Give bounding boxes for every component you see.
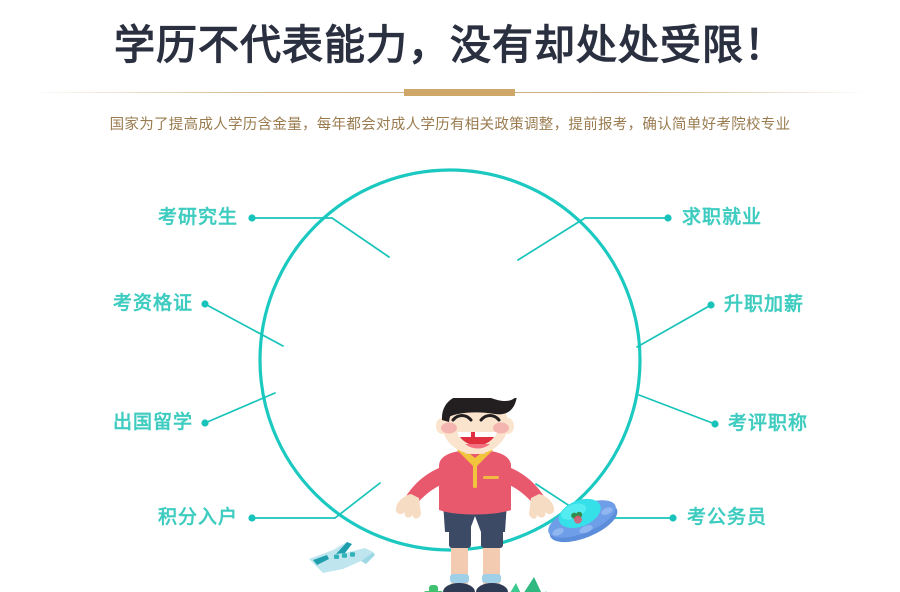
connector-left-3 bbox=[205, 393, 275, 423]
title-divider bbox=[0, 88, 900, 98]
node-kaopingzhicheng[interactable]: 考评职称 bbox=[728, 413, 900, 435]
node-kaoyanjiusheng[interactable]: 考研究生 bbox=[60, 207, 238, 229]
node-shengzhijiaxin[interactable]: 升职加薪 bbox=[724, 294, 900, 316]
connector-right-1 bbox=[518, 218, 668, 260]
connector-dot-left-4 bbox=[248, 514, 255, 521]
connector-left-1 bbox=[252, 218, 389, 257]
connector-right-3 bbox=[639, 395, 715, 424]
connector-dot-right-1 bbox=[664, 214, 671, 221]
page-root: 学历不代表能力，没有却处处受限！ 国家为了提高成人学历含金量，每年都会对成人学历… bbox=[0, 0, 900, 592]
connector-dot-right-3 bbox=[711, 420, 718, 427]
connector-left-4 bbox=[252, 483, 380, 518]
node-qiuzhijiuye[interactable]: 求职就业 bbox=[682, 207, 872, 229]
airplane-icon bbox=[303, 533, 379, 586]
node-jifenruhu[interactable]: 积分入户 bbox=[60, 507, 238, 529]
connector-dot-left-3 bbox=[201, 419, 208, 426]
node-kaogongwuyuan[interactable]: 考公务员 bbox=[687, 507, 877, 529]
page-subtitle: 国家为了提高成人学历含金量，每年都会对成人学历有相关政策调整，提前报考，确认简单… bbox=[0, 113, 900, 134]
connector-dot-right-2 bbox=[707, 301, 714, 308]
connector-dot-left-2 bbox=[201, 300, 208, 307]
page-title: 学历不代表能力，没有却处处受限！ bbox=[0, 20, 900, 70]
node-chuguoliuxue[interactable]: 出国留学 bbox=[15, 412, 193, 434]
node-kaozigezheng[interactable]: 考资格证 bbox=[15, 293, 193, 315]
cartoon-boy-icon bbox=[395, 398, 555, 592]
divider-block bbox=[404, 89, 515, 96]
header: 学历不代表能力，没有却处处受限！ 国家为了提高成人学历含金量，每年都会对成人学历… bbox=[0, 0, 900, 150]
radial-diagram: T bbox=[0, 150, 900, 592]
connector-left-2 bbox=[205, 304, 283, 346]
connector-dot-left-1 bbox=[248, 214, 255, 221]
connector-dot-right-4 bbox=[669, 514, 676, 521]
connector-right-2 bbox=[637, 305, 711, 347]
